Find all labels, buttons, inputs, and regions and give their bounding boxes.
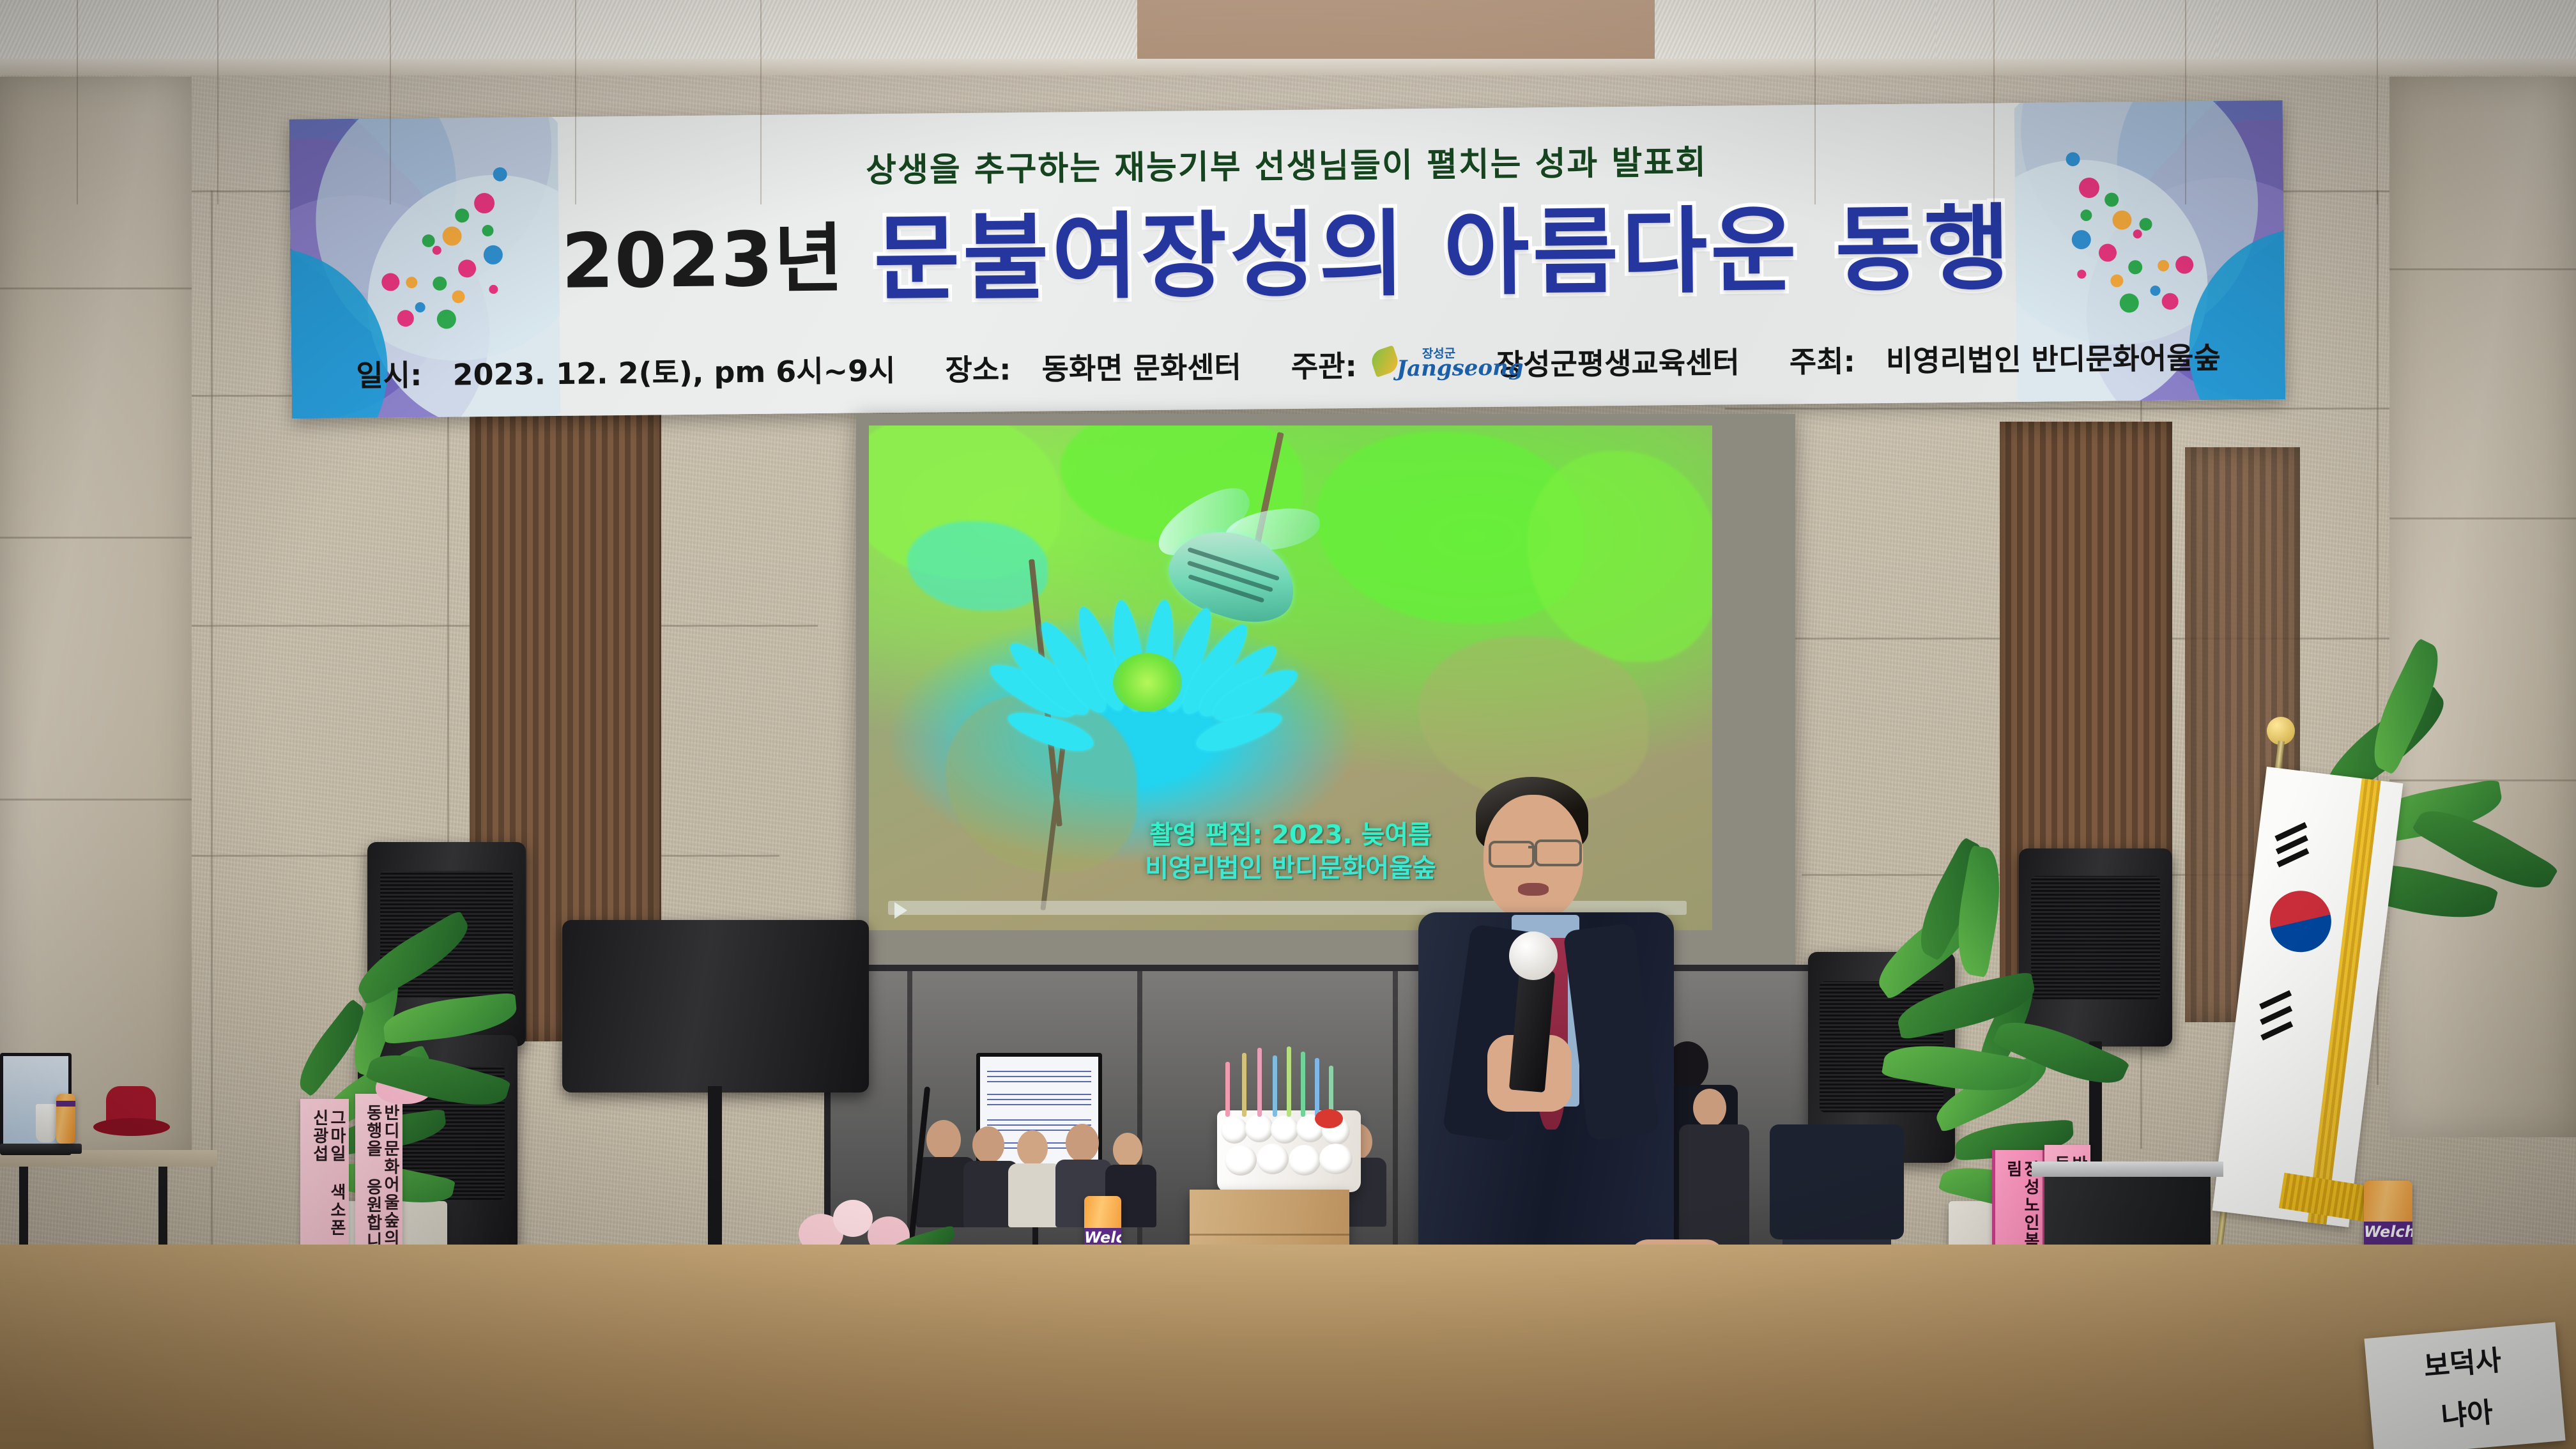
banner-organizer-value: 비영리법인 반디문화어울숲 [1886, 341, 2221, 378]
banner-host-label: 주관: [1291, 349, 1358, 384]
jangseong-logo-english: Jangseong [1397, 355, 1524, 381]
candle [1315, 1058, 1319, 1117]
laptop-keyboard-base[interactable] [0, 1144, 82, 1154]
banner-place-value: 동화면 문화센터 [1041, 350, 1241, 387]
candle [1301, 1052, 1305, 1117]
play-icon[interactable] [894, 902, 907, 919]
welchs-brand-label: Welch's [1084, 1229, 1121, 1246]
stage-monitor-left [562, 920, 869, 1092]
presenter-mouth [1518, 883, 1549, 896]
banner-organizer-label: 주최: [1790, 344, 1856, 379]
banner-host-value: 장성군평생교육센터 [1496, 345, 1740, 382]
presenter [1393, 767, 1751, 1316]
event-hall-photo: 상생을 추구하는 재능기부 선생님들이 펼치는 성과 발표회 2023년 문불여… [0, 0, 2576, 1449]
stainless-counter-right [2032, 1161, 2223, 1177]
chair-back-right [1770, 1124, 1904, 1239]
sign-line-2: 냐아 [2370, 1383, 2564, 1441]
microphone-head[interactable] [1509, 931, 1558, 980]
candle [1242, 1053, 1246, 1117]
red-fedora-hat[interactable] [93, 1086, 170, 1145]
candle [1225, 1062, 1230, 1117]
event-banner: 상생을 추구하는 재능기부 선생님들이 펼치는 성과 발표회 2023년 문불여… [289, 100, 2285, 418]
welchs-brand-label-right: Welch's [2364, 1223, 2412, 1241]
pa-speaker-right-top [2019, 848, 2172, 1046]
banner-date-label: 일시: [356, 358, 422, 393]
right-pillar [2389, 77, 2576, 1137]
candle [1273, 1055, 1277, 1117]
banner-year: 2023년 [561, 215, 844, 305]
presenter-glasses-bridge [1528, 846, 1537, 848]
sign-line-1: 보덕사 [2365, 1332, 2559, 1390]
candle [1257, 1048, 1262, 1117]
presenter-glasses-right-lens [1535, 839, 1582, 866]
banner-date-value: 2023. 12. 2(토), pm 6시~9시 [452, 353, 895, 392]
presenter-glasses [1489, 841, 1535, 868]
banner-main-title: 문불여장성의 아름다운 동행 [873, 194, 2014, 314]
flag-taeguk [2266, 887, 2334, 956]
left-pillar [0, 77, 192, 1163]
candle [1287, 1046, 1291, 1117]
floor [0, 1245, 2576, 1449]
flower-center [1113, 653, 1182, 712]
cake-topper-fruit [1315, 1109, 1343, 1128]
boduksa-sign-card: 보덕사 냐아 [2364, 1322, 2565, 1449]
paper-cup[interactable] [36, 1104, 56, 1142]
jangseong-logo: 장성군 Jangseong [1372, 345, 1482, 382]
banner-info-row: 일시: 2023. 12. 2(토), pm 6시~9시 장소: 동화면 문화센… [291, 334, 2285, 395]
orange-can-left[interactable] [56, 1094, 75, 1144]
banner-title-row: 2023년 문불여장성의 아름다운 동행 [290, 171, 2285, 325]
ceiling-recess-panel [1137, 0, 1655, 59]
banner-place-label: 장소: [945, 352, 1011, 387]
